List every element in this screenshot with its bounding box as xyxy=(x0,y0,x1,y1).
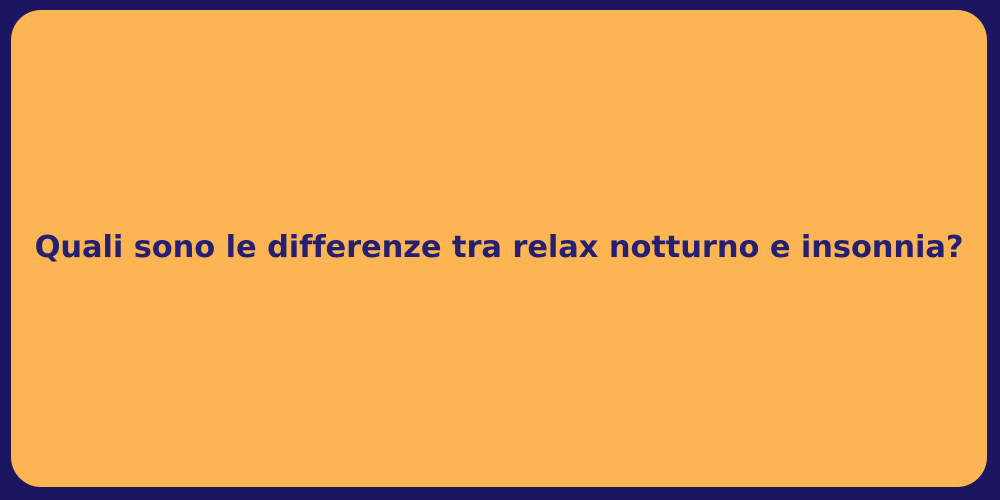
card-panel: Quali sono le differenze tra relax nottu… xyxy=(11,10,987,487)
card-frame: Quali sono le differenze tra relax nottu… xyxy=(0,0,1000,500)
question-heading: Quali sono le differenze tra relax nottu… xyxy=(35,229,964,267)
